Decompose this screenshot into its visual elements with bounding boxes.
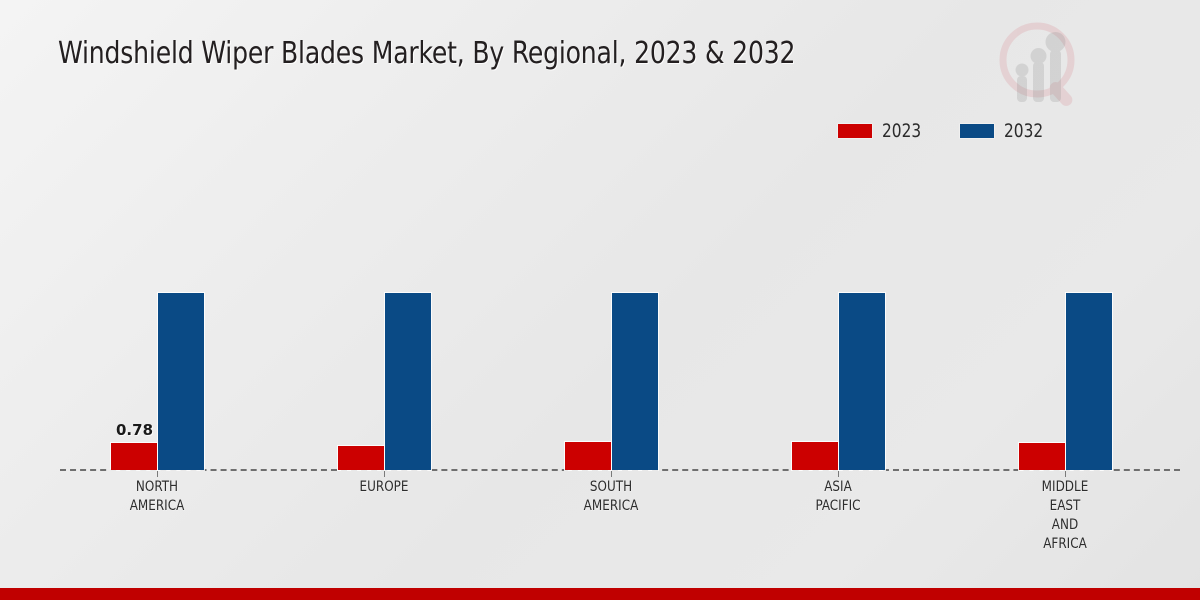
x-axis-label-line: EAST [978,497,1153,516]
bar-2023-north-america[interactable] [111,443,157,470]
x-axis-tick-2 [611,470,612,477]
x-axis-tick-1 [384,470,385,477]
bar-2032-asia-pacific[interactable] [839,293,885,470]
x-axis-tick-4 [1065,470,1066,477]
x-axis-tick-3 [838,470,839,477]
data-label-north-america-2023: 0.78 [116,421,153,439]
bar-2023-europe[interactable] [338,446,384,470]
x-axis-label-south-america: SOUTH AMERICA [524,478,699,516]
x-axis-label-middle-east-and-africa: MIDDLE EAST AND AFRICA [978,478,1153,554]
x-axis-label-north-america: NORTH AMERICA [70,478,245,516]
x-axis-label-line: SOUTH [524,478,699,497]
x-axis-label-line: NORTH [70,478,245,497]
x-axis-tick-0 [157,470,158,477]
x-axis-label-asia-pacific: ASIA PACIFIC [751,478,926,516]
bar-2032-europe[interactable] [385,293,431,470]
bar-2023-south-america[interactable] [565,442,611,470]
bar-2023-middle-east-and-africa[interactable] [1019,443,1065,470]
footer-accent-bar [0,588,1200,600]
x-axis-label-line: AMERICA [524,497,699,516]
x-axis-label-line: MIDDLE [978,478,1153,497]
plot-area: 0.78 NORTH AMERICA EUROPE SOUTH AMERICA [0,0,1200,600]
x-axis-label-line: PACIFIC [751,497,926,516]
x-axis-label-line: AND [978,516,1153,535]
x-axis-label-line: EUROPE [297,478,472,497]
chart-canvas: Windshield Wiper Blades Market, By Regio… [0,0,1200,600]
x-axis-label-europe: EUROPE [297,478,472,497]
bar-2032-north-america[interactable] [158,293,204,470]
bar-2032-middle-east-and-africa[interactable] [1066,293,1112,470]
x-axis-label-line: ASIA [751,478,926,497]
bar-2023-asia-pacific[interactable] [792,442,838,470]
x-axis-label-line: AMERICA [70,497,245,516]
bar-2032-south-america[interactable] [612,293,658,470]
x-axis-label-line: AFRICA [978,535,1153,554]
